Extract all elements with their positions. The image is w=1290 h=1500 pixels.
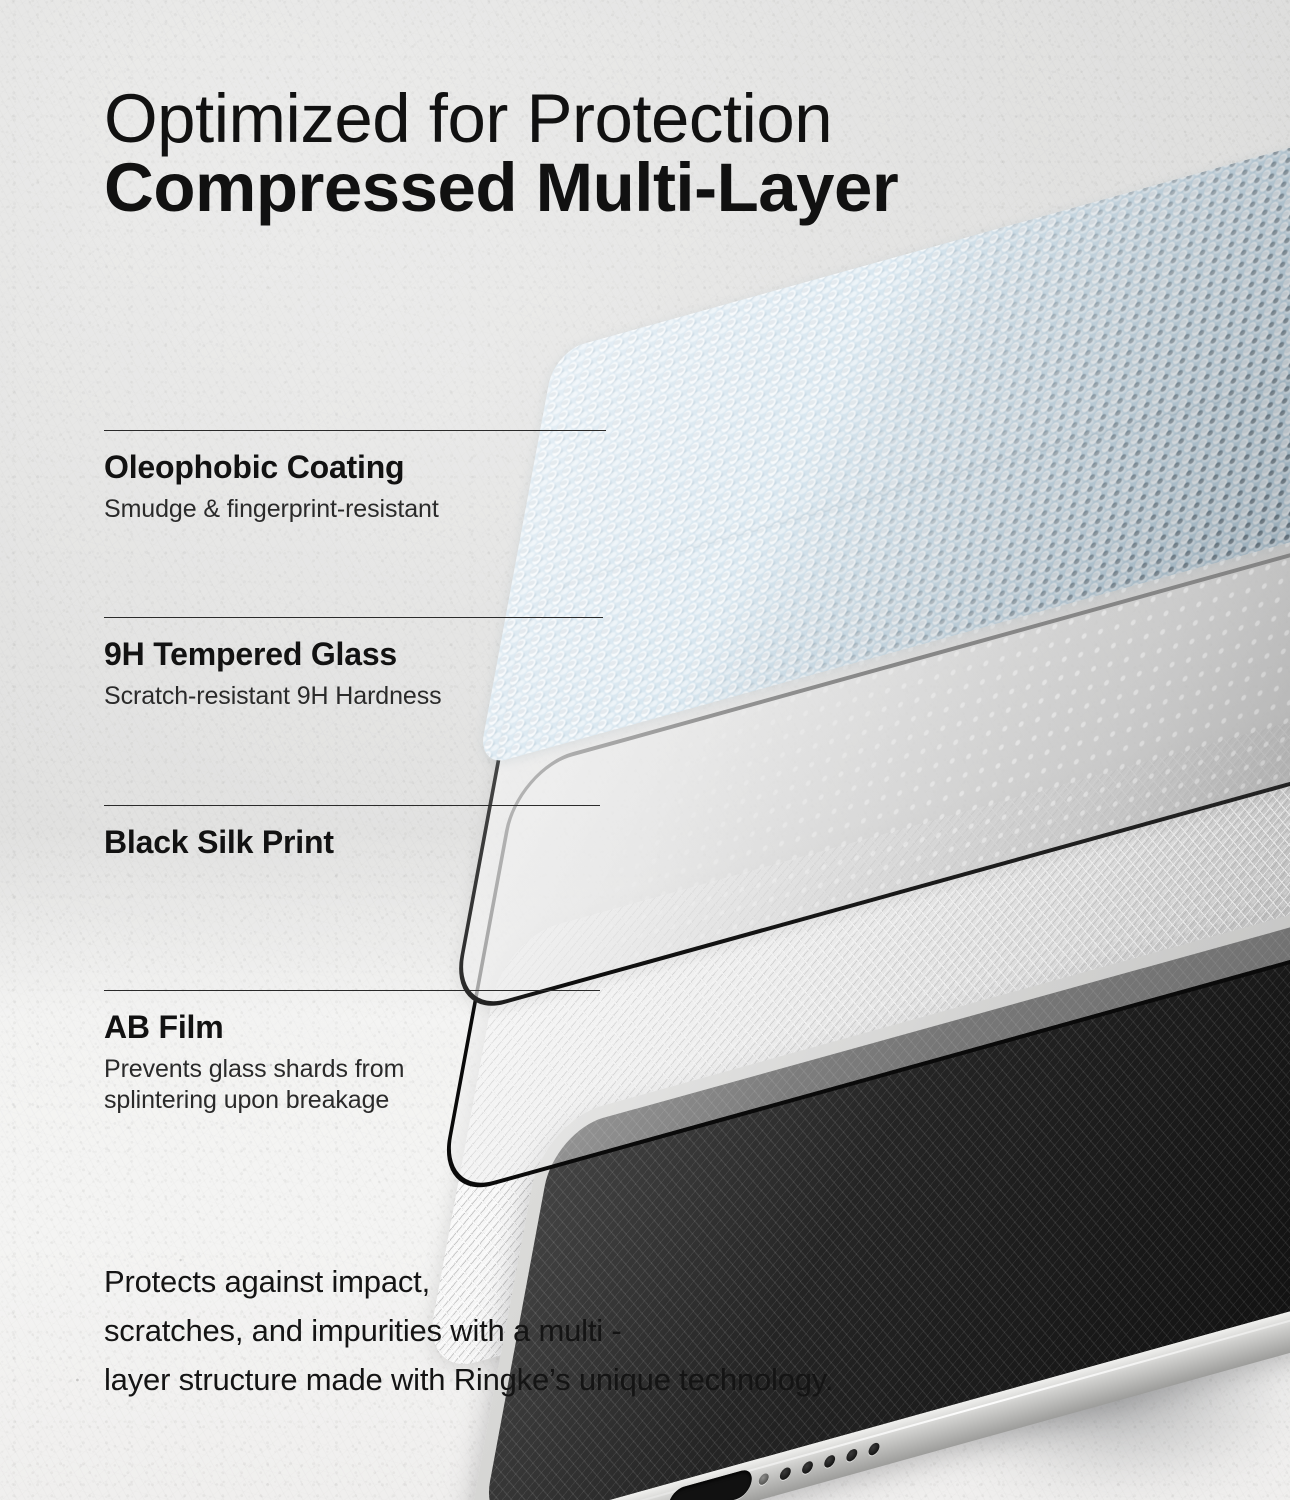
leader-line-oleophobic	[104, 430, 606, 431]
leader-line-tempered-glass	[104, 617, 603, 618]
title-line-2: Compressed Multi-Layer	[104, 152, 1164, 224]
layer-subtitle-tempered-glass: Scratch-resistant 9H Hardness	[104, 681, 624, 713]
leader-line-ab-film	[104, 990, 600, 991]
layer-title-tempered-glass: 9H Tempered Glass	[104, 637, 624, 673]
infographic-canvas: Optimized for Protection Compressed Mult…	[0, 0, 1290, 1500]
footnote-text: Protects against impact, scratches, and …	[104, 1258, 1114, 1405]
layer-title-oleophobic: Oleophobic Coating	[104, 450, 624, 486]
layer-callout-black-silk-print: Black Silk Print	[104, 825, 624, 861]
page-title: Optimized for Protection Compressed Mult…	[104, 86, 1164, 224]
leader-line-black-silk-print	[104, 805, 600, 806]
layer-title-ab-film: AB Film	[104, 1010, 624, 1046]
layer-callout-tempered-glass: 9H Tempered Glass Scratch-resistant 9H H…	[104, 637, 624, 712]
layer-subtitle-ab-film: Prevents glass shards from splintering u…	[104, 1054, 624, 1117]
layer-title-black-silk-print: Black Silk Print	[104, 825, 624, 861]
layer-subtitle-oleophobic: Smudge & fingerprint-resistant	[104, 494, 624, 526]
title-line-1: Optimized for Protection	[104, 86, 1164, 152]
layer-callout-ab-film: AB Film Prevents glass shards from splin…	[104, 1010, 624, 1117]
layer-callout-oleophobic: Oleophobic Coating Smudge & fingerprint-…	[104, 450, 624, 525]
